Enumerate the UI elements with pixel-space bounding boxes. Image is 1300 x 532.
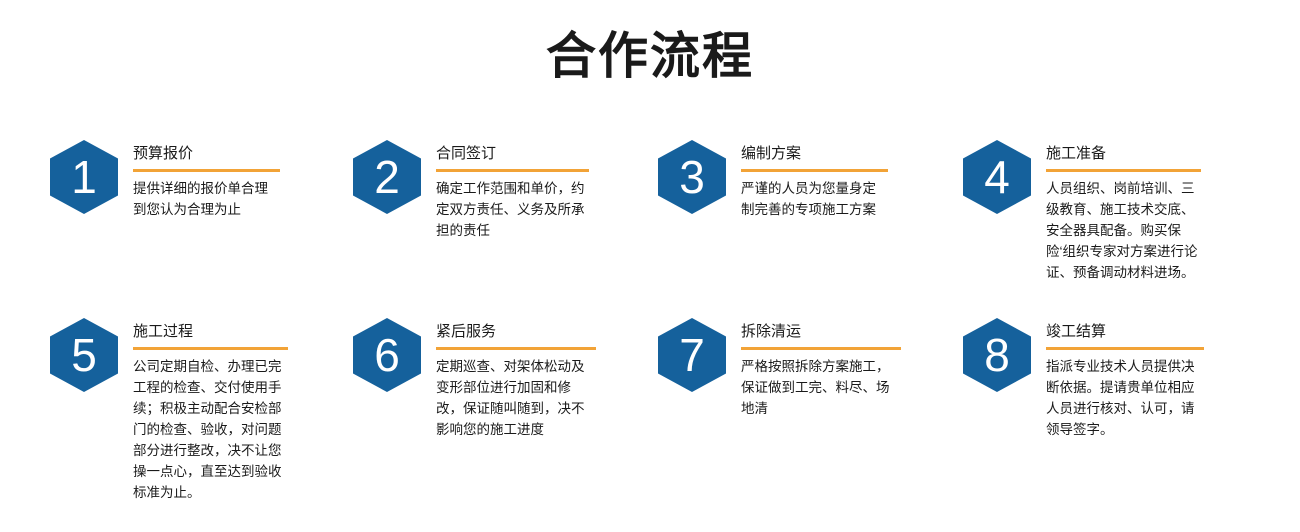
step-number-badge-5: 5 bbox=[50, 318, 118, 392]
step-number-8: 8 bbox=[963, 318, 1031, 392]
process-step-3: 3 编制方案 严谨的人员为您量身定制完善的专项施工方案 bbox=[658, 140, 888, 220]
process-step-1: 1 预算报价 提供详细的报价单合理到您认为合理为止 bbox=[50, 140, 280, 220]
title-underline-rule bbox=[133, 347, 288, 350]
step-number-2: 2 bbox=[353, 140, 421, 214]
step-number-badge-2: 2 bbox=[353, 140, 421, 214]
step-number-6: 6 bbox=[353, 318, 421, 392]
step-number-badge-3: 3 bbox=[658, 140, 726, 214]
title-underline-rule bbox=[741, 347, 901, 350]
step-description-4: 人员组织、岗前培训、三级教育、施工技术交底、安全器具配备。购买保险‘组织专家对方… bbox=[1046, 178, 1201, 283]
step-number-3: 3 bbox=[658, 140, 726, 214]
step-title-2: 合同签订 bbox=[436, 144, 589, 164]
step-description-3: 严谨的人员为您量身定制完善的专项施工方案 bbox=[741, 178, 888, 220]
step-title-8: 竣工结算 bbox=[1046, 322, 1204, 342]
step-description-5: 公司定期自检、办理已完工程的检查、交付使用手续；积极主动配合安检部门的检查、验收… bbox=[133, 356, 288, 503]
step-number-badge-4: 4 bbox=[963, 140, 1031, 214]
title-underline-rule bbox=[133, 169, 280, 172]
step-number-5: 5 bbox=[50, 318, 118, 392]
step-number-badge-7: 7 bbox=[658, 318, 726, 392]
process-step-7: 7 拆除清运 严格按照拆除方案施工，保证做到工完、料尽、场地清 bbox=[658, 318, 901, 419]
step-description-8: 指派专业技术人员提供决断依据。提请贵单位相应人员进行核对、认可，请领导签字。 bbox=[1046, 356, 1204, 440]
process-step-8: 8 竣工结算 指派专业技术人员提供决断依据。提请贵单位相应人员进行核对、认可，请… bbox=[963, 318, 1204, 440]
title-underline-rule bbox=[436, 169, 589, 172]
step-number-7: 7 bbox=[658, 318, 726, 392]
process-step-6: 6 紧后服务 定期巡查、对架体松动及变形部位进行加固和修改，保证随叫随到，决不影… bbox=[353, 318, 596, 440]
step-title-1: 预算报价 bbox=[133, 144, 280, 164]
step-description-6: 定期巡查、对架体松动及变形部位进行加固和修改，保证随叫随到，决不影响您的施工进度 bbox=[436, 356, 596, 440]
step-title-3: 编制方案 bbox=[741, 144, 888, 164]
step-number-4: 4 bbox=[963, 140, 1031, 214]
process-step-4: 4 施工准备 人员组织、岗前培训、三级教育、施工技术交底、安全器具配备。购买保险… bbox=[963, 140, 1201, 283]
process-step-2: 2 合同签订 确定工作范围和单价，约定双方责任、义务及所承担的责任 bbox=[353, 140, 589, 241]
process-step-5: 5 施工过程 公司定期自检、办理已完工程的检查、交付使用手续；积极主动配合安检部… bbox=[50, 318, 288, 503]
step-number-badge-1: 1 bbox=[50, 140, 118, 214]
step-description-2: 确定工作范围和单价，约定双方责任、义务及所承担的责任 bbox=[436, 178, 589, 241]
step-description-7: 严格按照拆除方案施工，保证做到工完、料尽、场地清 bbox=[741, 356, 901, 419]
step-number-1: 1 bbox=[50, 140, 118, 214]
process-infographic: 合作流程 1 预算报价 提供详细的报价单合理到您认为合理为止 2 合同签订 确定… bbox=[0, 0, 1300, 532]
step-title-7: 拆除清运 bbox=[741, 322, 901, 342]
step-title-6: 紧后服务 bbox=[436, 322, 596, 342]
title-underline-rule bbox=[741, 169, 888, 172]
step-title-4: 施工准备 bbox=[1046, 144, 1201, 164]
title-underline-rule bbox=[436, 347, 596, 350]
step-number-badge-8: 8 bbox=[963, 318, 1031, 392]
page-title: 合作流程 bbox=[0, 26, 1300, 86]
title-underline-rule bbox=[1046, 169, 1201, 172]
step-number-badge-6: 6 bbox=[353, 318, 421, 392]
step-title-5: 施工过程 bbox=[133, 322, 288, 342]
title-underline-rule bbox=[1046, 347, 1204, 350]
step-description-1: 提供详细的报价单合理到您认为合理为止 bbox=[133, 178, 280, 220]
